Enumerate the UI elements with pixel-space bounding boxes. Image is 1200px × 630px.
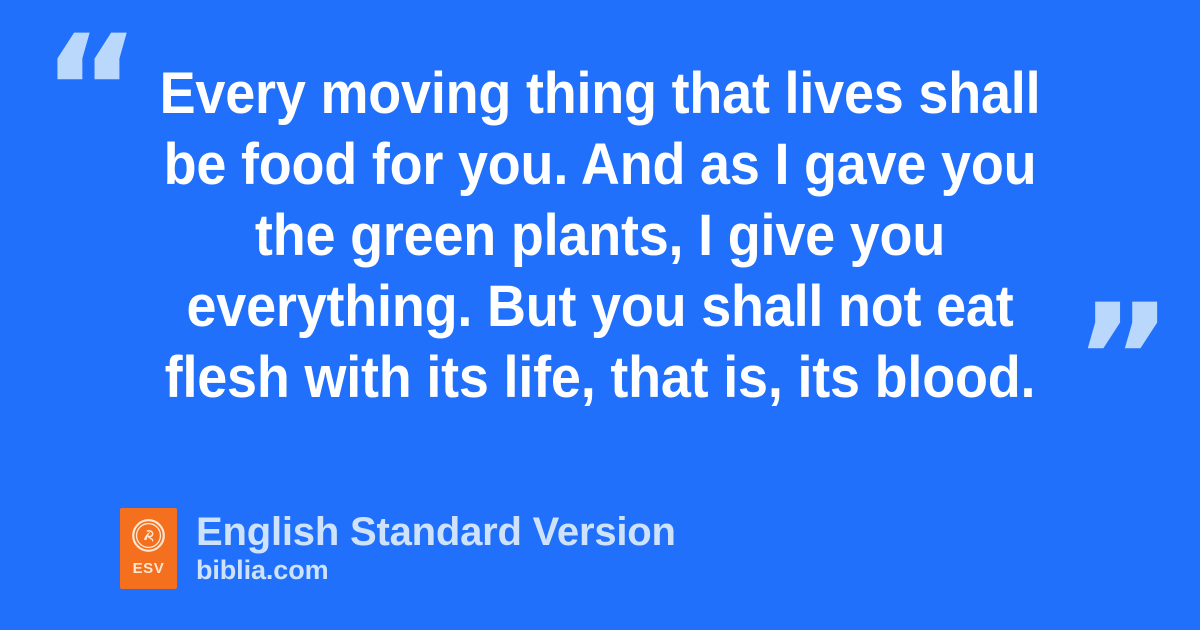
bible-version-name: English Standard Version <box>196 509 676 555</box>
site-name-label: biblia.com <box>196 555 676 585</box>
quote-line: Every moving thing that lives shall <box>131 58 1068 129</box>
quote-text-block: Every moving thing that lives shall be f… <box>96 58 1104 413</box>
esv-logo-badge: ESV <box>120 508 177 589</box>
quote-line: everything. But you shall not eat <box>131 271 1068 342</box>
closing-quote-mark-icon: ” <box>1074 285 1173 435</box>
attribution-footer: ESV English Standard Version biblia.com <box>120 508 676 589</box>
quote-line: flesh with its life, that is, its blood. <box>131 342 1068 413</box>
attribution-text-group: English Standard Version biblia.com <box>196 508 676 585</box>
esv-seal-icon <box>132 519 165 552</box>
verse-quote-card: “ Every moving thing that lives shall be… <box>0 0 1200 630</box>
quote-line: the green plants, I give you <box>131 200 1068 271</box>
esv-abbreviation-label: ESV <box>133 561 165 576</box>
quote-line: be food for you. And as I gave you <box>131 129 1068 200</box>
